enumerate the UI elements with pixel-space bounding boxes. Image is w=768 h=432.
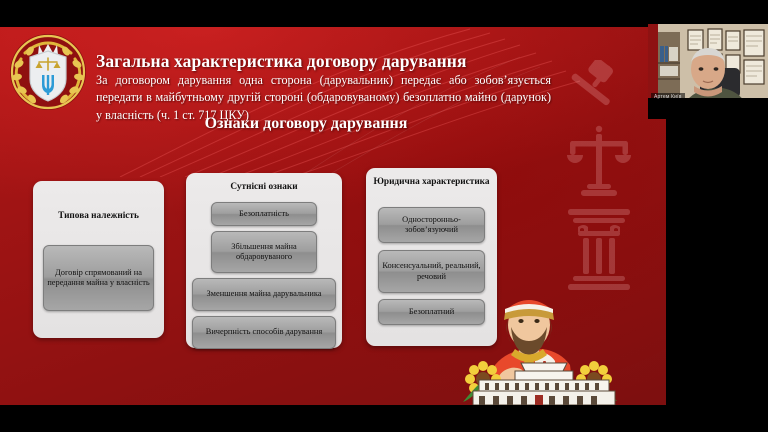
yaroslav-the-wise-illustration <box>449 279 639 405</box>
presentation-slide: Загальна характеристика договору даруван… <box>0 27 666 405</box>
panel-item: Договір спрямований на передання майна у… <box>43 245 154 311</box>
panel-essential-features: Сутнісні ознаки Безоплатність Збільшення… <box>186 173 342 348</box>
university-emblem-icon <box>6 31 90 113</box>
panel-item: Збільшення майна обдаровуваного <box>211 231 317 273</box>
panel-heading: Сутнісні ознаки <box>186 182 342 193</box>
scales-of-justice-icon <box>566 124 632 198</box>
panel-item: Односторонньо-зобов’язуючий <box>378 207 485 243</box>
gavel-icon <box>560 60 634 120</box>
participant-name-label: Артем Київ <box>651 93 685 101</box>
panel-typical-affiliation: Типова належність Договір спрямований на… <box>33 181 164 338</box>
slide-subtitle: Ознаки договору дарування <box>96 115 516 133</box>
panel-item: Зменшення майна дарувальника <box>192 278 336 311</box>
presenter-webcam-tile[interactable]: Артем Київ <box>648 24 768 119</box>
panel-item: Вичерпність способів дарування <box>192 316 336 349</box>
panel-heading: Юридична характеристика <box>366 177 497 188</box>
webcam-video-feed <box>648 24 768 119</box>
panel-heading: Типова належність <box>33 211 164 222</box>
panel-item: Безоплатність <box>211 202 317 226</box>
screen-share-view: Загальна характеристика договору даруван… <box>0 0 768 432</box>
slide-title: Загальна характеристика договору даруван… <box>96 51 556 72</box>
